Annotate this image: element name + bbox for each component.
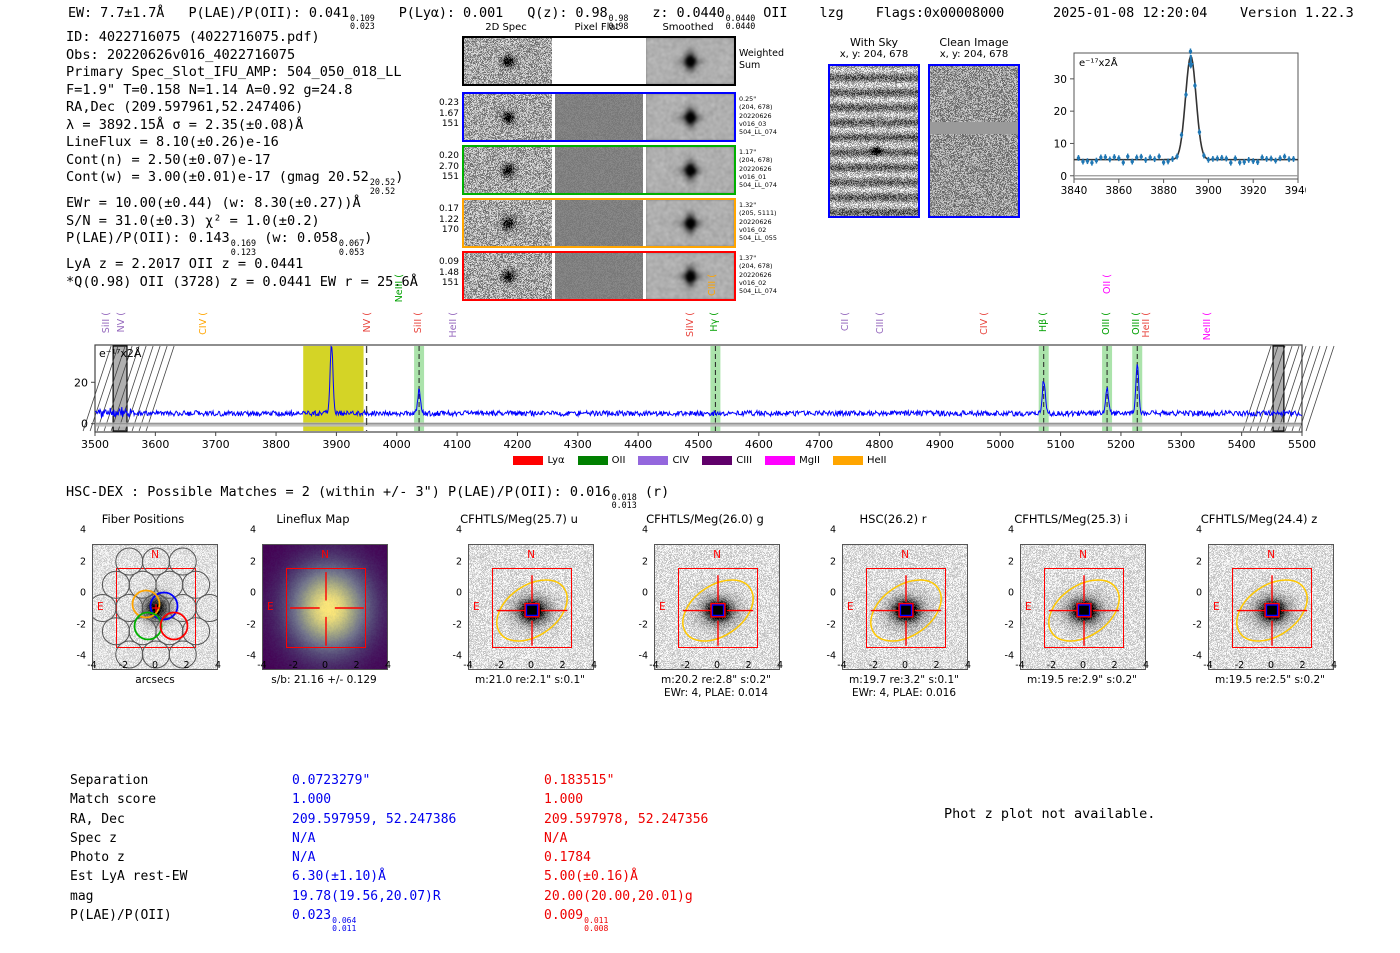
photz-note: Phot z plot not available. [944, 806, 1155, 822]
mosaic-cell-pixelflat [555, 147, 643, 193]
match-row-label: P(LAE)/P(OII) [70, 907, 290, 933]
cutout-xlabel: arcsecs [92, 674, 218, 686]
mosaic-meta-line: 20220626 [739, 218, 777, 226]
table-row: Est LyA rest-EW6.30(±1.10)Å5.00(±0.16)Å [70, 868, 708, 885]
cutout-xtick: 0 [1080, 660, 1086, 671]
cutout-ytick: 0 [62, 588, 86, 599]
match-blue-value: 0.0230.0640.011 [292, 907, 542, 933]
sky-panel-title: With Sky [826, 36, 922, 49]
table-row: RA, Dec209.597959, 52.247386209.597978, … [70, 811, 708, 828]
cutout-xtick: 4 [215, 660, 221, 671]
legend-label: HeII [867, 455, 887, 466]
cutout-xtick: -2 [1235, 660, 1244, 671]
legend-swatch [833, 456, 863, 465]
spectrum-line-label: Hβ ( [1038, 312, 1049, 332]
mosaic-stat: 0.20 [439, 151, 459, 162]
cutout-ytick: -4 [62, 651, 86, 662]
legend-item-MgII: MgII [765, 455, 820, 466]
svg-text:4100: 4100 [443, 438, 471, 451]
cutout-xtick: 4 [591, 660, 597, 671]
match-red-value: 20.00(20.00,20.01)g [544, 888, 708, 905]
mosaic-meta-line: 504_LL_055 [739, 234, 777, 242]
cutout-image: NE [262, 544, 388, 670]
mosaic-meta-line: v016_03 [739, 120, 777, 128]
svg-text:3940: 3940 [1285, 185, 1306, 197]
fiber-overlay [93, 545, 218, 670]
table-row: Photo zN/A0.1784 [70, 849, 708, 866]
info-ewr: EWr = 10.00(±0.44) (w: 8.30(±0.27))Å [66, 195, 418, 213]
header-right: 2025-01-08 12:20:04 Version 1.22.3 [1053, 5, 1354, 21]
svg-text:5300: 5300 [1167, 438, 1195, 451]
mosaic-meta-line: 20220626 [739, 165, 777, 173]
cutout-ytick: 2 [438, 556, 462, 567]
mosaic-row-meta: 0.25"(204, 678)20220626v016_03504_LL_074 [739, 95, 777, 136]
mosaic-stat: 1.67 [439, 109, 459, 120]
hsc-dex-match-line: HSC-DEX : Possible Matches = 2 (within +… [66, 484, 669, 510]
cutout-ytick: 4 [624, 525, 648, 536]
source-overlay [1209, 545, 1334, 670]
svg-text:0: 0 [1060, 171, 1067, 183]
table-row: Separation0.0723279"0.183515" [70, 772, 708, 789]
source-overlay [655, 545, 780, 670]
match-red-value: 0.0090.0110.008 [544, 907, 708, 933]
match-row-label: Separation [70, 772, 290, 789]
cutout-footer-secondary: EWr: 4, PLAE: 0.014 [640, 687, 792, 699]
mosaic-row-weighted-sum: WeightedSum [462, 36, 736, 86]
cutout-xtick: -4 [1203, 660, 1212, 671]
cutout-ytick: -2 [62, 619, 86, 630]
header-flags: Flags:0x00008000 [876, 5, 1004, 21]
spectrum-line-label: CIII ( [707, 274, 718, 296]
cutout-panel-5: CFHTLS/Meg(25.3) iNE-4-2024-4-2024m:19.5… [990, 512, 1160, 652]
legend-item-CIII: CIII [702, 455, 752, 466]
mosaic-meta-line: (204, 678) [739, 103, 777, 111]
spectrum-line-label: CIII ( [875, 312, 886, 334]
svg-text:4900: 4900 [926, 438, 954, 451]
svg-text:20: 20 [1054, 106, 1067, 118]
info-lambda: λ = 3892.15Å σ = 2.35(±0.08)Å [66, 117, 418, 135]
mosaic-cell-smoothed [646, 147, 734, 193]
legend-label: OII [612, 455, 626, 466]
mosaic-stat: 0.17 [439, 204, 459, 215]
mosaic-meta-line: v016_01 [739, 173, 777, 181]
match-blue-value: 0.0723279" [292, 772, 542, 789]
cutout-ytick: -4 [624, 651, 648, 662]
cutout-xtick: -2 [681, 660, 690, 671]
mosaic-cell-smoothed [646, 38, 734, 84]
mosaic-cell-2dspec [464, 38, 552, 84]
crosshair-overlay [263, 545, 388, 670]
cutout-ytick: -2 [990, 619, 1014, 630]
legend-label: Lyα [547, 455, 564, 466]
cutout-xtick: 4 [1331, 660, 1337, 671]
cutout-image: NE [468, 544, 594, 670]
info-plae-w-lo: 0.053 [339, 248, 364, 257]
cutout-ytick: -2 [812, 619, 836, 630]
svg-text:4400: 4400 [624, 438, 652, 451]
svg-text:3600: 3600 [141, 438, 169, 451]
info-cont-w-pre: Cont(w) = 3.00(±0.01)e-17 (gmag 20.52 [66, 169, 369, 185]
svg-text:3900: 3900 [1195, 185, 1222, 197]
match-red-value: 5.00(±0.16)Å [544, 868, 708, 885]
mosaic-meta-line: (204, 678) [739, 156, 777, 164]
cutout-footer-primary: m:21.0 re:2.1" s:0.1" [454, 674, 606, 686]
match-red-value: 209.597978, 52.247356 [544, 811, 708, 828]
info-cont-w-lo: 20.52 [370, 187, 395, 196]
header-qz-label: Q(z): [527, 5, 567, 21]
cutout-image: NE [1208, 544, 1334, 670]
legend-item-HeII: HeII [833, 455, 887, 466]
spectrum-line-label: HeII ( [1141, 312, 1152, 338]
header-z-label: z: [652, 5, 668, 21]
svg-text:30: 30 [1054, 74, 1067, 86]
cutout-xtick: 0 [528, 660, 534, 671]
mosaic-row-meta: 1.32"(205, 5111)20220626v016_02504_LL_05… [739, 201, 777, 242]
match-table: Separation0.0723279"0.183515"Match score… [68, 770, 710, 935]
match-row-label: Spec z [70, 830, 290, 847]
sky-panel-subtitle: x, y: 204, 678 [826, 49, 922, 60]
match-row-label: mag [70, 888, 290, 905]
svg-text:3900: 3900 [322, 438, 350, 451]
svg-text:4300: 4300 [564, 438, 592, 451]
mosaic-col-title-1: Pixel Flat [553, 22, 641, 33]
cutout-image: NE [92, 544, 218, 670]
cutout-ytick: -2 [232, 619, 256, 630]
mosaic-cell-2dspec [464, 147, 552, 193]
mosaic-cell-pixelflat [555, 94, 643, 140]
cutout-ytick: -4 [990, 651, 1014, 662]
sky-panel-clean: Clean Imagex, y: 204, 678 [926, 36, 1022, 218]
cutout-xtick: -2 [495, 660, 504, 671]
header-version: Version 1.22.3 [1240, 5, 1354, 21]
legend-item-Lyα: Lyα [513, 455, 564, 466]
cutout-xtick: -2 [869, 660, 878, 671]
cutout-ytick: -4 [1178, 651, 1202, 662]
cutout-ytick: 2 [62, 556, 86, 567]
cutout-ytick: 0 [990, 588, 1014, 599]
cutout-ytick: 2 [990, 556, 1014, 567]
header-z-value: 0.0440 [676, 5, 724, 21]
svg-text:4200: 4200 [503, 438, 531, 451]
cutout-xtick: 4 [385, 660, 391, 671]
mosaic-stat: 1.22 [439, 215, 459, 226]
header-qz-value: 0.98 [575, 5, 607, 21]
weighted-sum-line2: Sum [739, 60, 784, 72]
match-row-label: Match score [70, 791, 290, 808]
mosaic-row-meta: 1.17"(204, 678)20220626v016_01504_LL_074 [739, 148, 777, 189]
svg-text:e⁻¹⁷x2Å: e⁻¹⁷x2Å [99, 347, 142, 360]
mosaic-cell-smoothed [646, 200, 734, 246]
spectrum-line-label: SiII ( [101, 312, 112, 333]
cutout-ytick: 2 [624, 556, 648, 567]
cutout-image: NE [1020, 544, 1146, 670]
mosaic-row: 0.202.701511.17"(204, 678)20220626v016_0… [462, 145, 736, 195]
header-classifier: lzg [819, 5, 843, 21]
cutout-xtick: -2 [119, 660, 128, 671]
cutout-xtick: -4 [87, 660, 96, 671]
svg-text:5100: 5100 [1047, 438, 1075, 451]
svg-text:3880: 3880 [1150, 185, 1177, 197]
match-blue-value: 1.000 [292, 791, 542, 808]
spectrum-line-label: NeIII ( [394, 274, 405, 302]
emission-line-legend: LyαOIICIVCIIIMgIIHeII [0, 455, 1400, 466]
mosaic-meta-line: 504_LL_074 [739, 128, 777, 136]
cutout-ytick: 4 [812, 525, 836, 536]
cutout-ytick: 4 [62, 525, 86, 536]
table-row: P(LAE)/P(OII)0.0230.0640.0110.0090.0110.… [70, 907, 708, 933]
svg-text:5500: 5500 [1288, 438, 1316, 451]
weighted-sum-label: WeightedSum [739, 48, 784, 71]
cutout-ytick: 4 [232, 525, 256, 536]
cutout-ytick: 2 [232, 556, 256, 567]
info-lineflux: LineFlux = 8.10(±0.26)e-16 [66, 134, 418, 152]
cutout-xtick: 2 [933, 660, 939, 671]
legend-swatch [765, 456, 795, 465]
mosaic-meta-line: 1.32" [739, 201, 777, 209]
cutout-xtick: 2 [1111, 660, 1117, 671]
svg-text:5200: 5200 [1107, 438, 1135, 451]
cutout-xtick: 4 [965, 660, 971, 671]
mosaic-meta-line: 0.25" [739, 95, 777, 103]
match-red-value: 0.183515" [544, 772, 708, 789]
cutout-xtick: -4 [257, 660, 266, 671]
header-z-type: OII [763, 5, 787, 21]
cutout-xtick: -2 [289, 660, 298, 671]
mosaic-cell-pixelflat [555, 200, 643, 246]
svg-text:4700: 4700 [805, 438, 833, 451]
sky-panel-image [828, 64, 920, 218]
line-fit-svg: 3840386038803900392039400102030e⁻¹⁷x2Å [1036, 45, 1306, 205]
mosaic-stat: 2.70 [439, 162, 459, 173]
cutout-ytick: -4 [812, 651, 836, 662]
svg-text:5000: 5000 [986, 438, 1014, 451]
svg-text:5400: 5400 [1228, 438, 1256, 451]
cutout-panel-row: Fiber PositionsNE-4-2024-4-2024arcsecsLi… [0, 512, 1400, 722]
mosaic-row-stats: 0.202.70151 [439, 151, 459, 183]
spectrum-line-label: CIV ( [979, 312, 990, 335]
cutout-ytick: 2 [1178, 556, 1202, 567]
cutout-xtick: 0 [152, 660, 158, 671]
spectrum-line-label: OIII ( [1101, 312, 1112, 335]
info-slot: Primary Spec_Slot_IFU_AMP: 504_050_018_L… [66, 64, 418, 82]
mosaic-meta-line: v016_02 [739, 226, 777, 234]
info-obs: Obs: 20220626v016_4022716075 [66, 47, 418, 65]
mosaic-stat: 0.09 [439, 257, 459, 268]
info-plae-mid: (w: 0.058 [264, 230, 338, 246]
sky-panel-image [928, 64, 1020, 218]
cutout-ytick: -4 [232, 651, 256, 662]
match-row-label: Est LyA rest-EW [70, 868, 290, 885]
sky-panel-subtitle: x, y: 204, 678 [926, 49, 1022, 60]
info-cont-w: Cont(w) = 3.00(±0.01)e-17 (gmag 20.5220.… [66, 169, 418, 195]
cutout-footer-primary: m:19.5 re:2.5" s:0.2" [1194, 674, 1346, 686]
cutout-footer-primary: m:19.5 re:2.9" s:0.2" [1006, 674, 1158, 686]
mosaic-meta-line: (205, 5111) [739, 209, 777, 217]
svg-text:e⁻¹⁷x2Å: e⁻¹⁷x2Å [1079, 56, 1118, 69]
mosaic-meta-line: 504_LL_074 [739, 181, 777, 189]
svg-text:3700: 3700 [202, 438, 230, 451]
table-row: mag19.78(19.56,20.07)R20.00(20.00,20.01)… [70, 888, 708, 905]
spectrum-line-label: NV ( [362, 312, 373, 333]
cutout-ytick: 4 [990, 525, 1014, 536]
match-red-value: 0.1784 [544, 849, 708, 866]
hsc-dex-lo: 0.013 [612, 501, 637, 510]
svg-text:3800: 3800 [262, 438, 290, 451]
legend-swatch [702, 456, 732, 465]
cutout-xtick: -4 [837, 660, 846, 671]
spectrum-line-label: Hγ ( [709, 312, 720, 332]
svg-text:3840: 3840 [1061, 185, 1088, 197]
mosaic-stat: 0.23 [439, 98, 459, 109]
cutout-ytick: 2 [812, 556, 836, 567]
info-seeing: F=1.9" T=0.158 N=1.14 A=0.92 g=24.8 [66, 82, 418, 100]
cutout-xtick: -4 [649, 660, 658, 671]
legend-label: CIII [736, 455, 752, 466]
svg-text:4800: 4800 [866, 438, 894, 451]
cutout-ytick: 4 [1178, 525, 1202, 536]
spectrum-line-label: NeIII ( [1202, 312, 1213, 340]
svg-text:20: 20 [74, 376, 88, 389]
cutout-xtick: 2 [559, 660, 565, 671]
cutout-footer-primary: s/b: 21.16 +/- 0.129 [248, 674, 400, 686]
match-red-value: N/A [544, 830, 708, 847]
spectrum-line-label: OII ( [1102, 274, 1113, 294]
mosaic-cell-2dspec [464, 200, 552, 246]
legend-label: CIV [672, 455, 689, 466]
weighted-sum-line1: Weighted [739, 48, 784, 60]
header-plya: P(Lyα): 0.001 [399, 5, 503, 21]
cutout-panel-3: CFHTLS/Meg(26.0) gNE-4-2024-4-2024m:20.2… [624, 512, 794, 652]
full-spectrum-svg: 3500360037003800390040004100420043004400… [0, 270, 1400, 460]
info-plae-post: ) [364, 230, 372, 246]
cutout-xtick: 4 [777, 660, 783, 671]
info-cont-w-post: ) [395, 169, 403, 185]
match-blue-value: N/A [292, 849, 542, 866]
table-row: Spec zN/AN/A [70, 830, 708, 847]
match-blue-value: N/A [292, 830, 542, 847]
mosaic-meta-line: 1.17" [739, 148, 777, 156]
mosaic-row: 0.171.221701.32"(205, 5111)20220626v016_… [462, 198, 736, 248]
match-red-value: 1.000 [544, 791, 708, 808]
match-blue-value: 19.78(19.56,20.07)R [292, 888, 542, 905]
cutout-xtick: 2 [745, 660, 751, 671]
sky-panel-band [930, 122, 1018, 134]
source-overlay [843, 545, 968, 670]
legend-label: MgII [799, 455, 820, 466]
cutout-panel-6: CFHTLS/Meg(24.4) zNE-4-2024-4-2024m:19.5… [1178, 512, 1348, 652]
hsc-dex-post: (r) [645, 484, 669, 500]
spectrum-line-label: SiII ( [413, 312, 424, 333]
cutout-ytick: 0 [232, 588, 256, 599]
svg-text:3500: 3500 [81, 438, 109, 451]
info-plae: P(LAE)/P(OII): 0.1430.1690.123 (w: 0.058… [66, 230, 418, 256]
cutout-panel-1: Lineflux MapNE-4-2024-4-2024s/b: 21.16 +… [232, 512, 402, 652]
mosaic-stat: 151 [439, 172, 459, 183]
cutout-xtick: 2 [1299, 660, 1305, 671]
source-overlay [1021, 545, 1146, 670]
cutout-ytick: 0 [438, 588, 462, 599]
mosaic-meta-line: 1.37" [739, 254, 777, 262]
cutout-xtick: -2 [1047, 660, 1056, 671]
cutout-xtick: 2 [183, 660, 189, 671]
spectrum-line-label: CII ( [840, 312, 851, 331]
info-id: ID: 4022716075 (4022716075.pdf) [66, 29, 418, 47]
info-cont-n: Cont(n) = 2.50(±0.07)e-17 [66, 152, 418, 170]
mosaic-cell-pixelflat [555, 38, 643, 84]
header-timestamp: 2025-01-08 12:20:04 [1053, 5, 1207, 21]
spectrum-line-label: SiIV ( [685, 312, 696, 337]
source-overlay [469, 545, 594, 670]
cutout-image: NE [654, 544, 780, 670]
spectrum-line-label: HeII ( [448, 312, 459, 338]
cutout-ytick: 4 [438, 525, 462, 536]
header-ew: EW: 7.7±1.7Å [68, 5, 164, 21]
cutout-panel-4: HSC(26.2) rNE-4-2024-4-2024m:19.7 re:3.2… [812, 512, 982, 652]
mosaic-meta-line: 20220626 [739, 112, 777, 120]
spectrum-line-label: NV ( [116, 312, 127, 333]
table-row: Match score1.0001.000 [70, 791, 708, 808]
legend-swatch [513, 456, 543, 465]
legend-swatch [578, 456, 608, 465]
header-plae-value: 0.041 [309, 5, 349, 21]
mosaic-stat: 151 [439, 119, 459, 130]
svg-text:4500: 4500 [685, 438, 713, 451]
info-radec: RA,Dec (209.597961,52.247406) [66, 99, 418, 117]
mosaic-cell-2dspec [464, 94, 552, 140]
cutout-xtick: 0 [322, 660, 328, 671]
cutout-xtick: 0 [902, 660, 908, 671]
svg-text:4000: 4000 [383, 438, 411, 451]
svg-text:3860: 3860 [1105, 185, 1132, 197]
cutout-xtick: -4 [1015, 660, 1024, 671]
svg-text:0: 0 [81, 418, 88, 431]
svg-text:10: 10 [1054, 138, 1067, 150]
cutout-xtick: 0 [714, 660, 720, 671]
cutout-footer-primary: m:19.7 re:3.2" s:0.1" [828, 674, 980, 686]
cutout-footer-secondary: EWr: 4, PLAE: 0.016 [828, 687, 980, 699]
mosaic-stat: 170 [439, 225, 459, 236]
cutout-xtick: -4 [463, 660, 472, 671]
cutout-ytick: 0 [624, 588, 648, 599]
cutout-xtick: 0 [1268, 660, 1274, 671]
svg-text:3920: 3920 [1240, 185, 1267, 197]
cutout-xtick: 4 [1143, 660, 1149, 671]
detection-info-block: ID: 4022716075 (4022716075.pdf) Obs: 202… [66, 29, 418, 292]
header-plae-label: P(LAE)/P(OII): [188, 5, 300, 21]
svg-text:4600: 4600 [745, 438, 773, 451]
spectrum-line-label: CIV ( [198, 312, 209, 335]
match-row-label: RA, Dec [70, 811, 290, 828]
match-blue-value: 6.30(±1.10)Å [292, 868, 542, 885]
legend-item-OII: OII [578, 455, 626, 466]
cutout-footer-primary: m:20.2 re:2.8" s:0.2" [640, 674, 792, 686]
match-blue-value: 209.597959, 52.247386 [292, 811, 542, 828]
cutout-ytick: -2 [624, 619, 648, 630]
line-fit-zoom-plot: 3840386038803900392039400102030e⁻¹⁷x2Å [1036, 45, 1306, 209]
mosaic-row-stats: 0.171.22170 [439, 204, 459, 236]
info-plae-lo: 0.123 [231, 248, 256, 257]
mosaic-col-title-0: 2D Spec [462, 22, 550, 33]
legend-swatch [638, 456, 668, 465]
cutout-ytick: -2 [438, 619, 462, 630]
full-spectrum-plot: 3500360037003800390040004100420043004400… [0, 270, 1400, 460]
hsc-dex-pre: HSC-DEX : Possible Matches = 2 (within +… [66, 484, 611, 500]
cutout-panel-0: Fiber PositionsNE-4-2024-4-2024arcsecs [62, 512, 232, 652]
cutout-image: NE [842, 544, 968, 670]
mosaic-col-title-2: Smoothed [644, 22, 732, 33]
sky-panel-with-sky: With Skyx, y: 204, 678 [826, 36, 922, 218]
match-row-label: Photo z [70, 849, 290, 866]
